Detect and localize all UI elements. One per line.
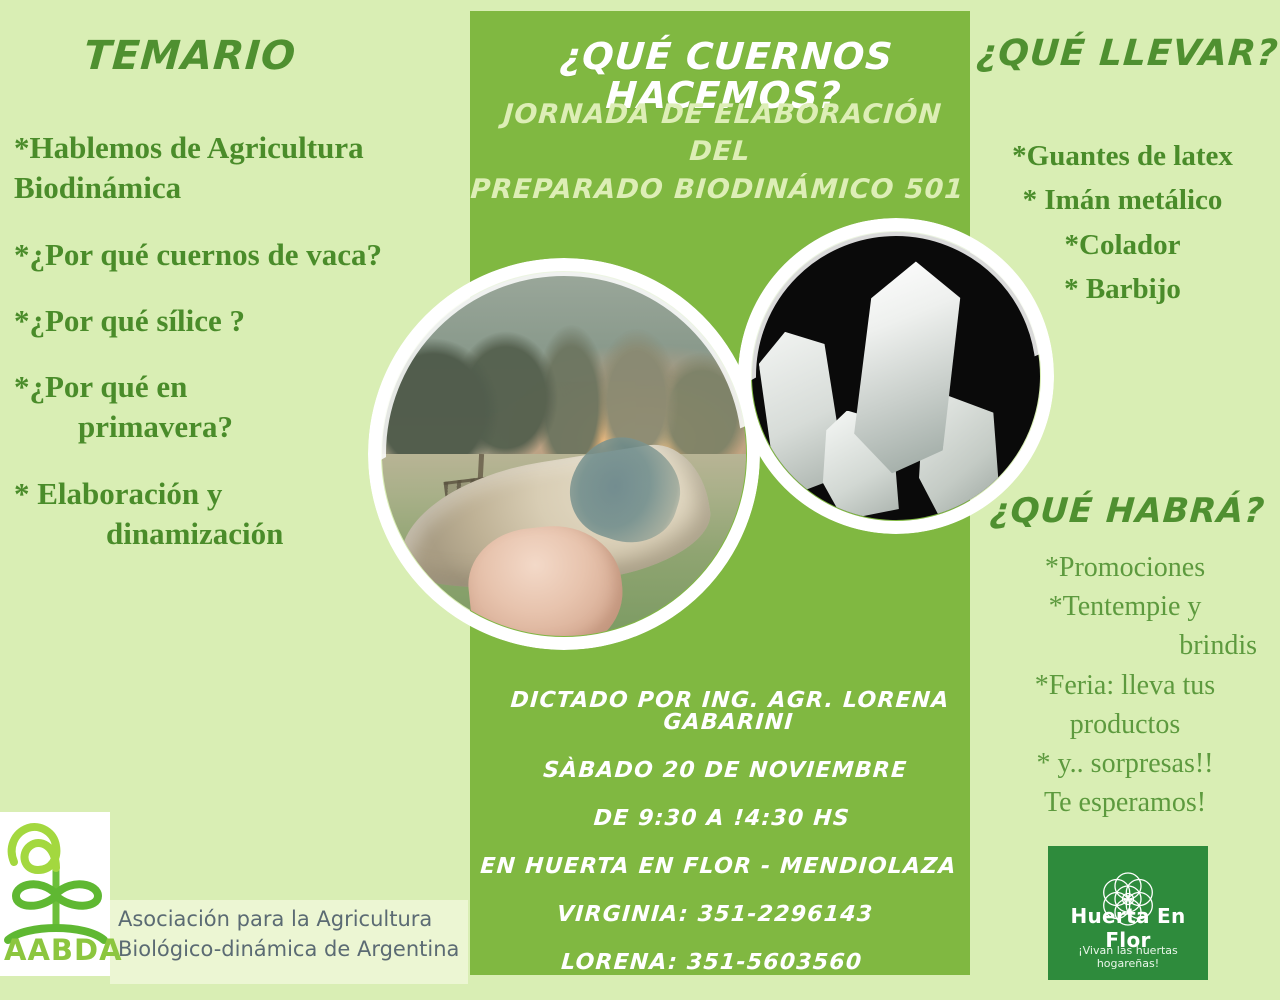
temario-heading: TEMARIO	[0, 36, 381, 76]
subtitle-line-2: PREPARADO BIODINÁMICO 501	[466, 171, 969, 208]
que-habra-list: *Promociones *Tentempie y brindis *Feria…	[975, 548, 1275, 822]
list-item: *Tentempie y	[975, 587, 1275, 626]
temario-item-2-line1: *¿Por qué cuernos de vaca?	[14, 237, 382, 272]
temario-item-4-line1: *¿Por qué en	[14, 369, 187, 404]
list-item: Te esperamos!	[975, 783, 1275, 822]
que-llevar-heading: ¿QUÉ LLEVAR?	[974, 36, 1280, 72]
subtitle: JORNADA DE ELABORACIÓN DEL PREPARADO BIO…	[466, 96, 974, 208]
huerta-en-flor-logo: Huerta En Flor ¡Vivan las huertas hogare…	[1048, 846, 1208, 980]
que-llevar-list: *Guantes de latex * Imán metálico *Colad…	[965, 134, 1280, 311]
horn-image	[382, 272, 746, 636]
detail-location: EN HUERTA EN FLOR - MENDIOLAZA	[468, 856, 970, 878]
list-item: productos	[975, 705, 1275, 744]
list-item: *Hablemos de Agricultura Biodinámica	[14, 128, 466, 209]
list-item: *Guantes de latex	[965, 134, 1280, 178]
detail-date: SÀBADO 20 DE NOVIEMBRE	[474, 760, 976, 782]
aabda-tagline-line-1: Asociación para la Agricultura	[118, 907, 432, 931]
tree-line	[382, 294, 746, 461]
list-item: *Colador	[965, 223, 1280, 267]
que-habra-heading: ¿QUÉ HABRÁ?	[974, 494, 1280, 528]
aabda-tagline-line-2: Biológico-dinámica de Argentina	[118, 937, 459, 961]
temario-item-1-line2: Biodinámica	[14, 168, 466, 208]
huerta-slogan: ¡Vivan las huertas hogareñas!	[1048, 944, 1208, 970]
detail-phone-virginia: VIRGINIA: 351-2296143	[464, 904, 966, 926]
aabda-logo: Asociación para la Agricultura Biológico…	[0, 812, 468, 989]
detail-presenter: DICTADO POR ING. AGR. LORENA GABARINI	[478, 690, 981, 734]
poster-canvas: TEMARIO *Hablemos de Agricultura Biodiná…	[0, 0, 1280, 989]
aabda-wordmark: AABDA	[4, 933, 108, 967]
list-item: *Feria: lleva tus	[975, 666, 1275, 705]
temario-item-1-line1: *Hablemos de Agricultura	[14, 130, 364, 165]
event-details: DICTADO POR ING. AGR. LORENA GABARINI SÀ…	[459, 690, 981, 1000]
aabda-tagline: Asociación para la Agricultura Biológico…	[118, 904, 468, 965]
list-item: * Imán metálico	[965, 178, 1280, 222]
detail-phone-lorena: LORENA: 351-5603560	[461, 952, 963, 974]
list-item: brindis	[975, 626, 1275, 665]
list-item: * Barbijo	[965, 267, 1280, 311]
detail-time: DE 9:30 A !4:30 HS	[471, 808, 973, 830]
temario-item-3-line1: *¿Por qué sílice ?	[14, 303, 245, 338]
list-item: * y.. sorpresas!!	[975, 744, 1275, 783]
temario-item-5-line1: * Elaboración y	[14, 476, 222, 511]
horn-photo	[382, 272, 746, 636]
list-item: *¿Por qué cuernos de vaca?	[14, 235, 466, 275]
subtitle-line-1: JORNADA DE ELABORACIÓN DEL	[469, 96, 974, 171]
list-item: *Promociones	[975, 548, 1275, 587]
